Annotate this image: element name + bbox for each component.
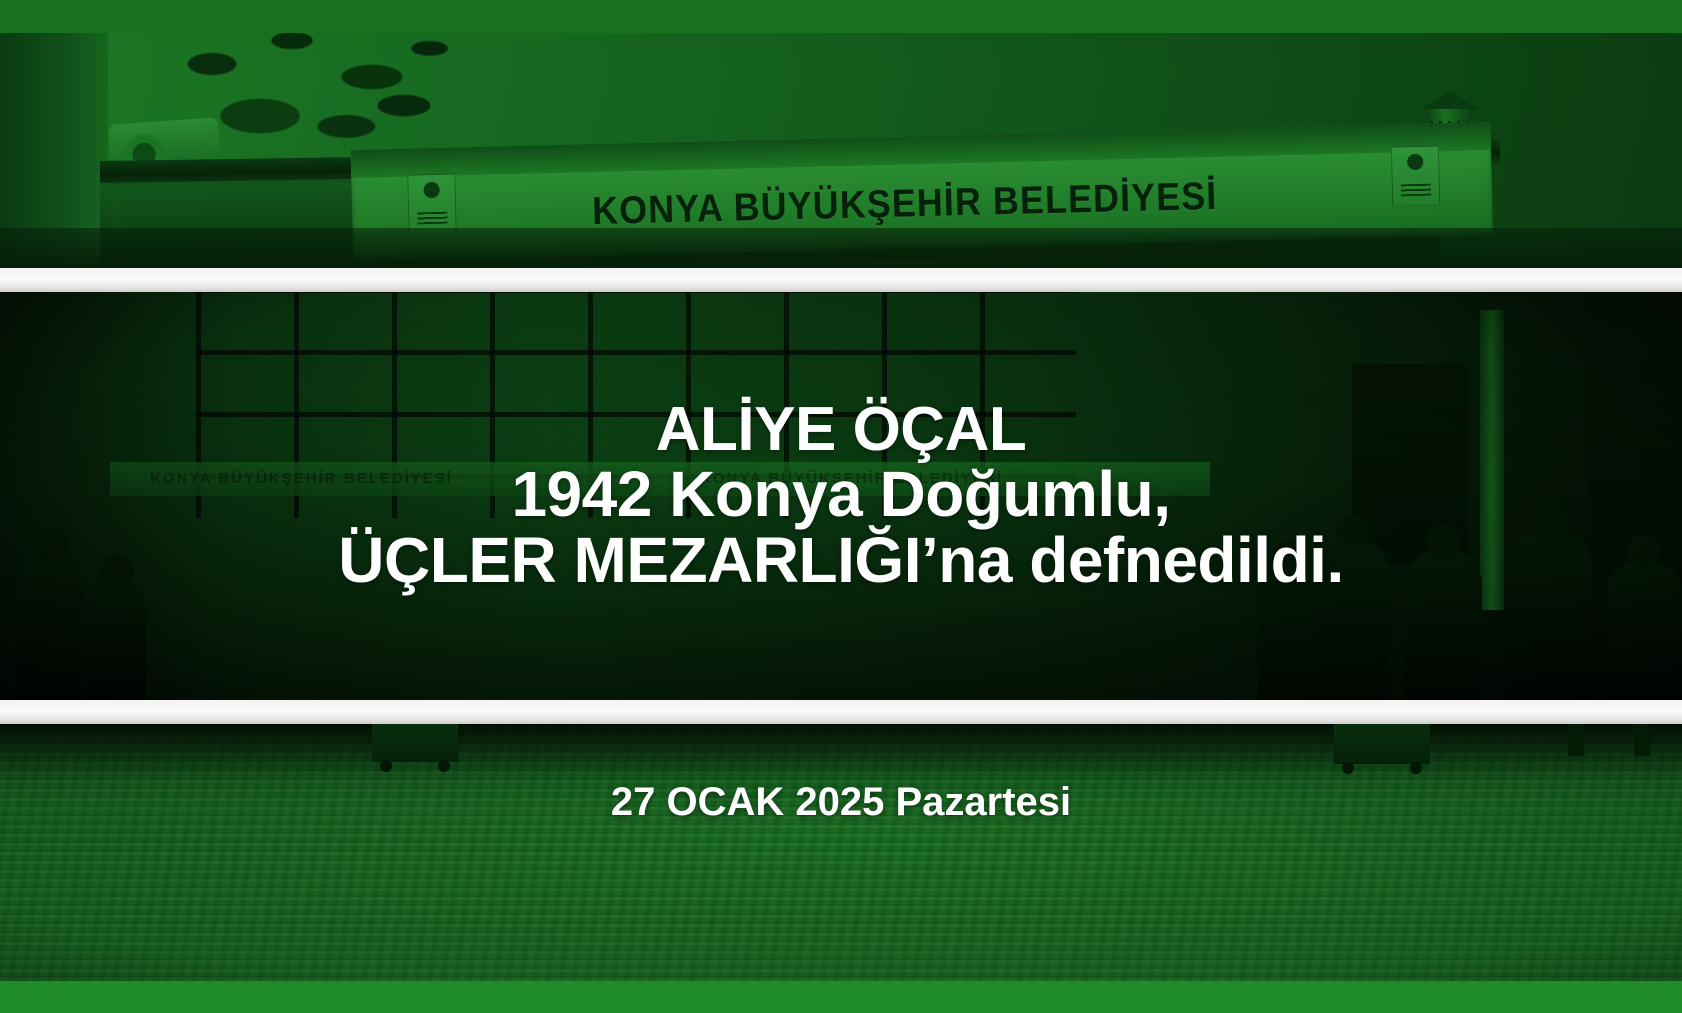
banner-text: KONYA BÜYÜKŞEHİR BELEDİYESİ (592, 175, 1218, 234)
municipality-logo-icon (1391, 145, 1440, 206)
headline-line-birth: 1942 Konya Doğumlu, (511, 462, 1170, 528)
headline-line-name: ALİYE ÖÇAL (656, 398, 1026, 462)
top-accent-strip (0, 0, 1682, 33)
municipality-logo-icon (407, 173, 456, 234)
bottom-vignette (0, 724, 1682, 981)
obituary-poster: KONYA BÜYÜKŞEHİR BELEDİYESİ KONYA BÜYÜKŞ… (0, 0, 1682, 1013)
main-photo-band: KONYA BÜYÜKŞEHİR BELEDİYESİ KONYA BÜYÜKŞ… (0, 292, 1682, 700)
bottom-photo-band: 27 OCAK 2025 Pazartesi (0, 724, 1682, 981)
divider-bar-bottom (0, 700, 1682, 724)
divider-bar-top (0, 268, 1682, 292)
ground-shadow (0, 228, 1682, 268)
headline-line-cemetery: ÜÇLER MEZARLIĞI’na defnedildi. (338, 528, 1343, 594)
top-photo-band: KONYA BÜYÜKŞEHİR BELEDİYESİ (0, 33, 1682, 268)
headline-block: ALİYE ÖÇAL 1942 Konya Doğumlu, ÜÇLER MEZ… (0, 292, 1682, 700)
date-text: 27 OCAK 2025 Pazartesi (0, 780, 1682, 825)
bottom-accent-strip (0, 981, 1682, 1013)
